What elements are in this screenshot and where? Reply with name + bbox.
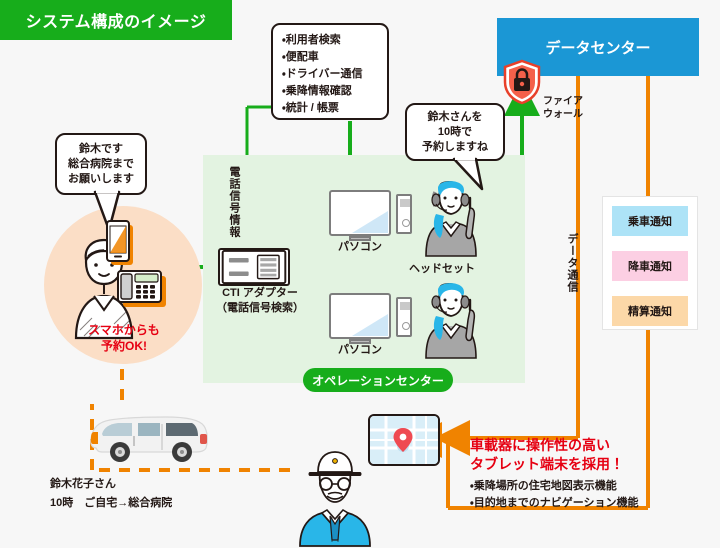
notification-label: 精算通知 [628,303,672,319]
operator-icon-2 [418,280,484,358]
tablet-bullet-item: 乗降場所の住宅地図表示機能 [470,478,685,495]
tablet-bullet-item: 目的地までのナビゲーション機能 [470,495,685,512]
smartphone-icon [107,221,133,265]
shield-lock-icon [503,60,541,104]
customer-speech-bubble: 鈴木です 総合病院まで お願いします [55,133,147,195]
operator-bubble-line: 10時で [438,125,472,140]
tablet-map-icon[interactable] [368,414,440,466]
operation-center-label: オペレーションセンター [312,372,444,389]
tablet-note-heading: 車載器に操作性の高い タブレット端末を採用！ [470,436,675,474]
feature-item: 便配車 [282,49,387,66]
notification-badge-boarding: 乗車通知 [612,206,688,236]
cti-adapter-label: CTI アダプター （電話信号検索） [200,286,320,316]
firewall-label: ファイア ウォール [543,96,603,121]
notification-badge-settlement: 精算通知 [612,296,688,326]
passenger-reservation-note: 鈴木花子さん 10時 ご自宅→総合病院 [50,475,172,513]
pc-tower-2 [396,297,412,337]
feature-item: 利用者検索 [282,32,387,49]
notification-label: 乗車通知 [628,213,672,229]
customer-bubble-line: 鈴木です [79,142,123,157]
tablet-bullet-list: 乗降場所の住宅地図表示機能 目的地までのナビゲーション機能 [470,478,685,512]
telephone-signal-label: 電話信号情報 [228,166,239,248]
passenger-trip: 10時 ご自宅→総合病院 [50,494,172,513]
pc-monitor-2 [329,293,391,339]
notification-badge-alighting: 降車通知 [612,251,688,281]
data-communication-label: データ通信 [566,233,577,295]
tablet-note-bullets: 乗降場所の住宅地図表示機能 目的地までのナビゲーション機能 [470,478,685,512]
landline-phone-icon [118,271,166,307]
headset-label: ヘッドセット [396,260,488,276]
cti-adapter-icon [218,248,290,286]
feature-item: 乗降情報確認 [282,83,387,100]
passenger-name: 鈴木花子さん [50,475,172,494]
pc-label: パソコン [330,238,390,254]
pc-monitor-1 [329,190,391,236]
operator-speech-bubble: 鈴木さんを 10時で 予約しますね [405,103,505,161]
operation-center-pill: オペレーションセンター [303,368,453,392]
feature-item: ドライバー通信 [282,66,387,83]
operator-bubble-line: 鈴木さんを [428,110,483,125]
features-list: 利用者検索 便配車 ドライバー通信 乗降情報確認 統計 / 帳票 [282,32,387,117]
page-title-text: システム構成のイメージ [26,8,207,32]
pc-tower-1 [396,194,412,234]
van-icon [88,412,210,464]
page-title: システム構成のイメージ [0,0,232,40]
smartphone-reservation-note: スマホからも 予約OK! [60,322,188,354]
notification-label: 降車通知 [628,258,672,274]
customer-bubble-line: お願いします [68,172,134,187]
driver-icon [296,450,374,546]
features-callout: 利用者検索 便配車 ドライバー通信 乗降情報確認 統計 / 帳票 [271,23,389,120]
pc-label: パソコン [330,341,390,357]
customer-bubble-line: 総合病院まで [68,157,134,172]
datacenter-label: データセンター [545,37,650,58]
feature-item: 統計 / 帳票 [282,100,387,117]
operator-bubble-line: 予約しますね [422,140,488,155]
operator-bubble-tail [452,157,486,191]
